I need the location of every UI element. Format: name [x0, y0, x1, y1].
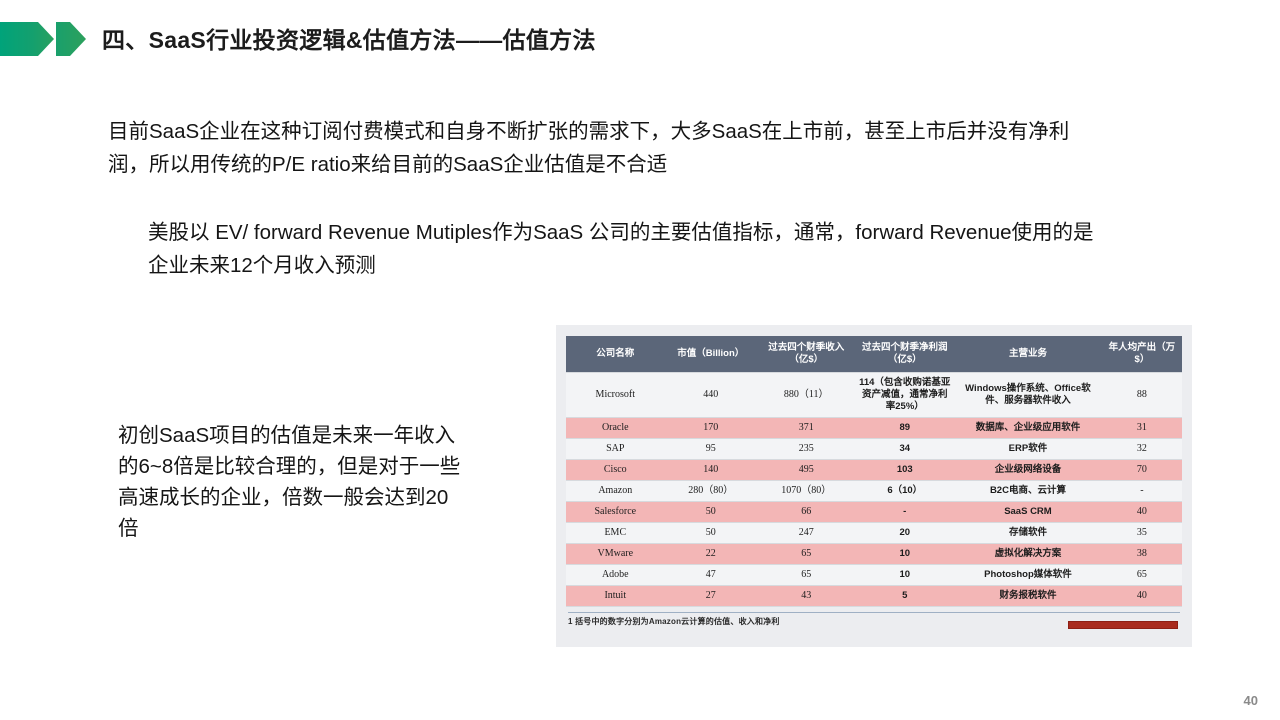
business-cell: 财务报税软件: [954, 586, 1102, 607]
table-row: Oracle17037189数据库、企业级应用软件31: [566, 418, 1182, 439]
marketcap-cell: 280（80）: [665, 481, 757, 502]
marketcap-cell: 47: [665, 565, 757, 586]
business-cell: SaaS CRM: [954, 502, 1102, 523]
table-row: Microsoft440880（11）114（包含收购诺基亚资产减值，通常净利率…: [566, 373, 1182, 418]
business-cell: 存储软件: [954, 523, 1102, 544]
revenue-cell: 235: [757, 439, 856, 460]
company-cell: Microsoft: [566, 373, 665, 418]
revenue-cell: 66: [757, 502, 856, 523]
marketcap-cell: 440: [665, 373, 757, 418]
revenue-cell: 43: [757, 586, 856, 607]
netprofit-cell: 34: [855, 439, 954, 460]
chevron-right-icon: [56, 22, 86, 56]
figure-red-bar: [1068, 621, 1178, 629]
table-row: SAP9523534ERP软件32: [566, 439, 1182, 460]
page-number: 40: [1244, 693, 1258, 708]
netprofit-cell: -: [855, 502, 954, 523]
marketcap-cell: 22: [665, 544, 757, 565]
business-cell: Photoshop媒体软件: [954, 565, 1102, 586]
paragraph-indent: 美股以 EV/ forward Revenue Mutiples作为SaaS 公…: [148, 216, 1108, 282]
business-cell: 企业级网络设备: [954, 460, 1102, 481]
revenue-cell: 371: [757, 418, 856, 439]
percapita-cell: 35: [1102, 523, 1182, 544]
table-header-row: 公司名称 市值（Billion） 过去四个财季收入（亿$） 过去四个财季净利润（…: [566, 336, 1182, 373]
revenue-cell: 65: [757, 544, 856, 565]
marketcap-cell: 27: [665, 586, 757, 607]
company-cell: Intuit: [566, 586, 665, 607]
table-row: EMC5024720存储软件35: [566, 523, 1182, 544]
percapita-cell: 40: [1102, 586, 1182, 607]
percapita-cell: 65: [1102, 565, 1182, 586]
table-row: Cisco140495103企业级网络设备70: [566, 460, 1182, 481]
netprofit-cell: 10: [855, 565, 954, 586]
company-comparison-table: 公司名称 市值（Billion） 过去四个财季收入（亿$） 过去四个财季净利润（…: [566, 336, 1182, 607]
netprofit-cell: 10: [855, 544, 954, 565]
paragraph-main: 目前SaaS企业在这种订阅付费模式和自身不断扩张的需求下，大多SaaS在上市前，…: [108, 115, 1108, 181]
revenue-cell: 495: [757, 460, 856, 481]
business-cell: Windows操作系统、Office软件、服务器软件收入: [954, 373, 1102, 418]
revenue-cell: 880（11）: [757, 373, 856, 418]
netprofit-cell: 89: [855, 418, 954, 439]
column-header-company: 公司名称: [566, 336, 665, 373]
netprofit-cell: 20: [855, 523, 954, 544]
revenue-cell: 247: [757, 523, 856, 544]
company-cell: Amazon: [566, 481, 665, 502]
figure-divider: [568, 612, 1180, 613]
marketcap-cell: 50: [665, 523, 757, 544]
company-cell: Salesforce: [566, 502, 665, 523]
company-cell: Oracle: [566, 418, 665, 439]
netprofit-cell: 103: [855, 460, 954, 481]
company-cell: Adobe: [566, 565, 665, 586]
column-header-revenue: 过去四个财季收入（亿$）: [757, 336, 856, 373]
revenue-cell: 65: [757, 565, 856, 586]
table-body: Microsoft440880（11）114（包含收购诺基亚资产减值，通常净利率…: [566, 373, 1182, 607]
business-cell: 数据库、企业级应用软件: [954, 418, 1102, 439]
paragraph-left: 初创SaaS项目的估值是未来一年收入的6~8倍是比较合理的，但是对于一些高速成长…: [118, 420, 468, 544]
business-cell: ERP软件: [954, 439, 1102, 460]
company-cell: EMC: [566, 523, 665, 544]
company-cell: VMware: [566, 544, 665, 565]
netprofit-cell: 5: [855, 586, 954, 607]
netprofit-cell: 6（10）: [855, 481, 954, 502]
marketcap-cell: 170: [665, 418, 757, 439]
marketcap-cell: 140: [665, 460, 757, 481]
business-cell: B2C电商、云计算: [954, 481, 1102, 502]
percapita-cell: 88: [1102, 373, 1182, 418]
table-row: Amazon280（80）1070（80）6（10）B2C电商、云计算-: [566, 481, 1182, 502]
percapita-cell: 70: [1102, 460, 1182, 481]
header-arrow-graphic: [0, 22, 86, 56]
arrow-block-icon: [0, 22, 54, 56]
percapita-cell: 32: [1102, 439, 1182, 460]
table-row: Adobe476510Photoshop媒体软件65: [566, 565, 1182, 586]
percapita-cell: -: [1102, 481, 1182, 502]
netprofit-cell: 114（包含收购诺基亚资产减值，通常净利率25%）: [855, 373, 954, 418]
marketcap-cell: 50: [665, 502, 757, 523]
page-title: 四、SaaS行业投资逻辑&估值方法——估值方法: [102, 21, 596, 55]
company-cell: SAP: [566, 439, 665, 460]
table-row: Salesforce5066-SaaS CRM40: [566, 502, 1182, 523]
table-row: Intuit27435财务报税软件40: [566, 586, 1182, 607]
column-header-marketcap: 市值（Billion）: [665, 336, 757, 373]
slide-header: 四、SaaS行业投资逻辑&估值方法——估值方法: [0, 0, 1280, 72]
percapita-cell: 40: [1102, 502, 1182, 523]
marketcap-cell: 95: [665, 439, 757, 460]
business-cell: 虚拟化解决方案: [954, 544, 1102, 565]
table-row: VMware226510虚拟化解决方案38: [566, 544, 1182, 565]
column-header-netprofit: 过去四个财季净利润（亿$）: [855, 336, 954, 373]
column-header-business: 主营业务: [954, 336, 1102, 373]
column-header-percapita: 年人均产出（万$）: [1102, 336, 1182, 373]
percapita-cell: 31: [1102, 418, 1182, 439]
revenue-cell: 1070（80）: [757, 481, 856, 502]
comparison-table-figure: 公司名称 市值（Billion） 过去四个财季收入（亿$） 过去四个财季净利润（…: [556, 325, 1192, 647]
percapita-cell: 38: [1102, 544, 1182, 565]
company-cell: Cisco: [566, 460, 665, 481]
